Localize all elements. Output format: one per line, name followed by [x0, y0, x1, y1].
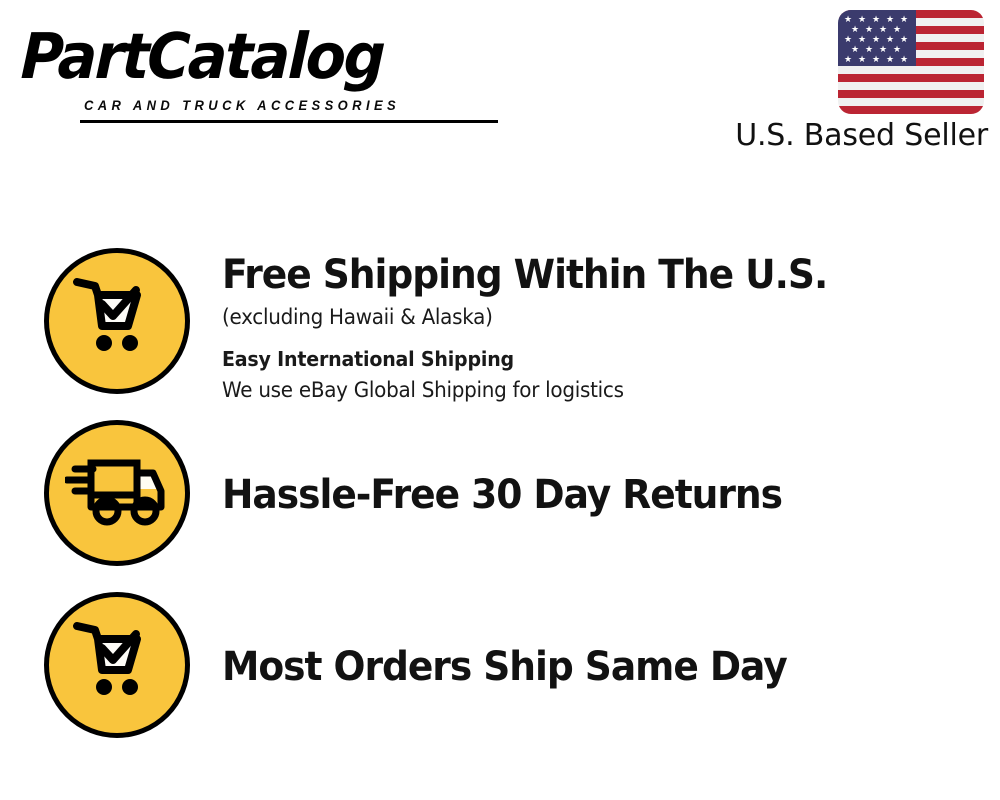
flag-canton: ★ ★ ★ ★ ★ ★ ★ ★ ★ ★ ★ ★ ★ ★ ★ ★ ★ ★ ★ ★ … — [838, 10, 916, 66]
shopping-cart-check-icon — [44, 248, 190, 394]
delivery-truck-icon — [44, 420, 190, 566]
feature-text-block: Hassle-Free 30 Day Returns — [222, 420, 962, 518]
flag-stripe — [838, 106, 984, 114]
feature-row: Free Shipping Within The U.S. (excluding… — [0, 248, 1000, 408]
shopping-cart-check-icon — [44, 592, 190, 738]
us-flag-icon: ★ ★ ★ ★ ★ ★ ★ ★ ★ ★ ★ ★ ★ ★ ★ ★ ★ ★ ★ ★ … — [838, 10, 984, 114]
feature-heading: Most Orders Ship Same Day — [222, 644, 918, 690]
brand-wordmark: PartCatalog — [20, 24, 385, 90]
feature-subtext: We use eBay Global Shipping for logistic… — [222, 375, 925, 405]
feature-subtext: (excluding Hawaii & Alaska) — [222, 302, 925, 332]
brand-underline-rule — [80, 120, 498, 123]
us-based-seller-label: U.S. Based Seller — [724, 119, 988, 153]
flag-stripe — [838, 90, 984, 98]
feature-subtext-bold: Easy International Shipping — [222, 344, 925, 374]
feature-heading: Hassle-Free 30 Day Returns — [222, 472, 918, 518]
feature-text-block: Free Shipping Within The U.S. (excluding… — [222, 248, 962, 405]
flag-stripe — [838, 74, 984, 82]
brand-logo[interactable]: PartCatalog CAR AND TRUCK ACCESSORIES — [22, 24, 492, 116]
feature-heading: Free Shipping Within The U.S. — [222, 252, 918, 298]
feature-text-block: Most Orders Ship Same Day — [222, 592, 962, 690]
feature-row: Hassle-Free 30 Day Returns — [0, 420, 1000, 570]
feature-row: Most Orders Ship Same Day — [0, 592, 1000, 742]
brand-tagline: CAR AND TRUCK ACCESSORIES — [84, 98, 400, 113]
page-header: PartCatalog CAR AND TRUCK ACCESSORIES ★ … — [0, 0, 1000, 175]
